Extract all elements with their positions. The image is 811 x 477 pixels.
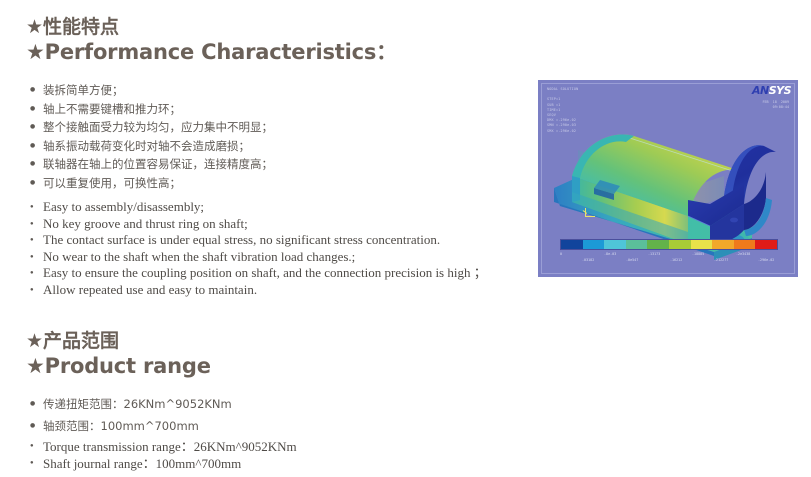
product-range-bullet-list-cn: 传递扭矩范围：26KNm^9052KNm 轴颈范围：100mm^700mm — [30, 393, 232, 437]
legend-swatch-1 — [583, 240, 605, 249]
section-product-range: ★产品范围 ★Product range — [26, 330, 211, 379]
axis-triad-icon — [583, 208, 597, 220]
list-item: Shaft journal range：100mm^700mm — [30, 455, 297, 472]
product-range-heading-en: ★Product range — [26, 353, 211, 379]
list-item: The contact surface is under equal stres… — [30, 232, 487, 249]
legend-swatch-4 — [647, 240, 669, 249]
list-item: 轴颈范围：100mm^700mm — [30, 415, 232, 437]
list-item: 轴上不需要键槽和推力环； — [30, 100, 273, 119]
product-range-heading-cn: ★产品范围 — [26, 330, 211, 353]
legend-tick-lower-1: .0e547 — [626, 258, 638, 262]
ansys-fea-stress-plot-image: NODAL SOLUTION STEP=1 SUB =1 TIME=1 SEQV… — [538, 80, 798, 277]
legend-swatch-7 — [712, 240, 734, 249]
list-item: 传递扭矩范围：26KNm^9052KNm — [30, 393, 232, 415]
legend-swatch-3 — [626, 240, 648, 249]
list-item: Easy to ensure the coupling position on … — [30, 265, 487, 282]
legend-swatch-8 — [734, 240, 756, 249]
list-item: Allow repeated use and easy to maintain. — [30, 282, 487, 299]
legend-tick-upper-0: 0 — [560, 252, 562, 256]
performance-bullet-list-cn: 装拆简单方便； 轴上不需要键槽和推力环； 整个接触面受力较为均匀，应力集中不明显… — [30, 81, 273, 193]
list-item: 轴系振动载荷变化时对轴不会造成磨损； — [30, 137, 273, 156]
list-item: No wear to the shaft when the shaft vibr… — [30, 249, 487, 266]
list-item: 整个接触面受力较为均匀，应力集中不明显； — [30, 118, 273, 137]
legend-tick-lower-4: .296e-02 — [758, 258, 774, 262]
legend-tick-upper-1: .8e-03 — [604, 252, 616, 256]
stress-color-legend — [560, 239, 778, 250]
legend-swatch-0 — [561, 240, 583, 249]
list-item: Easy to assembly/disassembly; — [30, 199, 487, 216]
legend-swatch-6 — [691, 240, 713, 249]
list-item: No key groove and thrust ring on shaft; — [30, 216, 487, 233]
legend-swatch-2 — [604, 240, 626, 249]
performance-bullet-list-en: Easy to assembly/disassembly; No key gro… — [30, 199, 487, 299]
stress-legend-labels: 0.8e-03.13173.18885.2e3438.03182.0e547.1… — [556, 252, 786, 260]
legend-tick-lower-3: .212277 — [714, 258, 728, 262]
product-range-bullet-list-en: Torque transmission range：26KNm^9052KNm … — [30, 438, 297, 472]
legend-swatch-5 — [669, 240, 691, 249]
performance-heading-cn: ★性能特点 — [26, 16, 397, 39]
legend-tick-lower-2: .16212 — [670, 258, 682, 262]
legend-swatch-9 — [755, 240, 777, 249]
section-performance-characteristics: ★性能特点 ★Performance Characteristics： — [26, 16, 397, 65]
performance-heading-en: ★Performance Characteristics： — [26, 39, 397, 65]
legend-tick-lower-0: .03182 — [582, 258, 594, 262]
legend-tick-upper-4: .2e3438 — [736, 252, 750, 256]
list-item: 可以重复使用，可换性高； — [30, 174, 273, 193]
legend-tick-upper-2: .13173 — [648, 252, 660, 256]
legend-tick-upper-3: .18885 — [692, 252, 704, 256]
list-item: 装拆简单方便； — [30, 81, 273, 100]
list-item: 联轴器在轴上的位置容易保证，连接精度高； — [30, 155, 273, 174]
list-item: Torque transmission range：26KNm^9052KNm — [30, 438, 297, 455]
